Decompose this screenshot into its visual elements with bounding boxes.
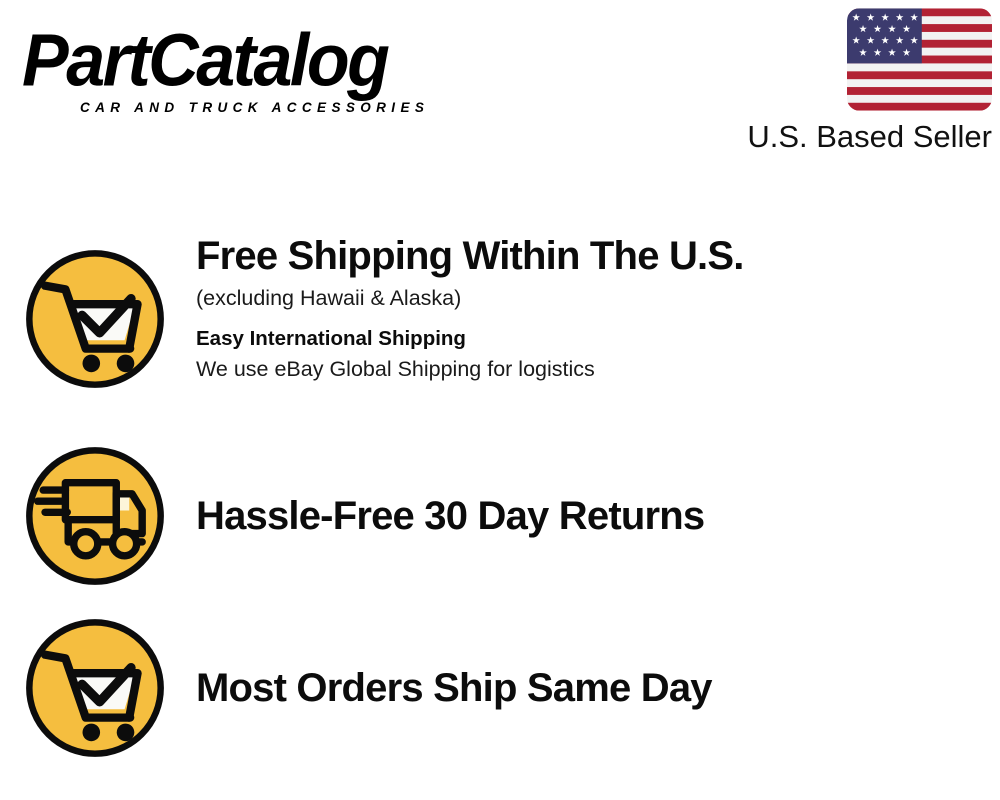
feature-icon-container — [0, 442, 190, 590]
feature-subtitle: Easy International Shipping — [196, 325, 1000, 353]
feature-row-same-day-shipping: Most Orders Ship Same Day — [0, 602, 1000, 774]
feature-title: Most Orders Ship Same Day — [196, 665, 1000, 711]
shopping-cart-check-icon — [21, 245, 169, 393]
us-based-seller-badge: U.S. Based Seller — [727, 8, 992, 154]
feature-list: Free Shipping Within The U.S. (excluding… — [0, 215, 1000, 774]
brand-logo[interactable]: PartCatalog CAR AND TRUCK ACCESSORIES — [22, 22, 492, 117]
shopping-cart-check-icon — [21, 614, 169, 762]
feature-title: Hassle-Free 30 Day Returns — [196, 493, 1000, 539]
brand-tagline: CAR AND TRUCK ACCESSORIES — [80, 100, 429, 115]
us-flag-icon — [847, 8, 992, 111]
us-based-seller-label: U.S. Based Seller — [727, 120, 992, 154]
page-header: PartCatalog CAR AND TRUCK ACCESSORIES — [0, 0, 1000, 175]
feature-title: Free Shipping Within The U.S. — [196, 233, 1000, 279]
feature-icon-container — [0, 233, 190, 393]
feature-row-free-shipping: Free Shipping Within The U.S. (excluding… — [0, 215, 1000, 430]
delivery-truck-icon — [21, 442, 169, 590]
feature-note: (excluding Hawaii & Alaska) — [196, 283, 1000, 313]
feature-row-returns: Hassle-Free 30 Day Returns — [0, 430, 1000, 602]
feature-text-container: Most Orders Ship Same Day — [190, 665, 1000, 711]
feature-text-container: Hassle-Free 30 Day Returns — [190, 493, 1000, 539]
brand-wordmark: PartCatalog — [22, 22, 492, 98]
feature-icon-container — [0, 614, 190, 762]
feature-subnote: We use eBay Global Shipping for logistic… — [196, 355, 1000, 384]
feature-text-container: Free Shipping Within The U.S. (excluding… — [190, 233, 1000, 384]
